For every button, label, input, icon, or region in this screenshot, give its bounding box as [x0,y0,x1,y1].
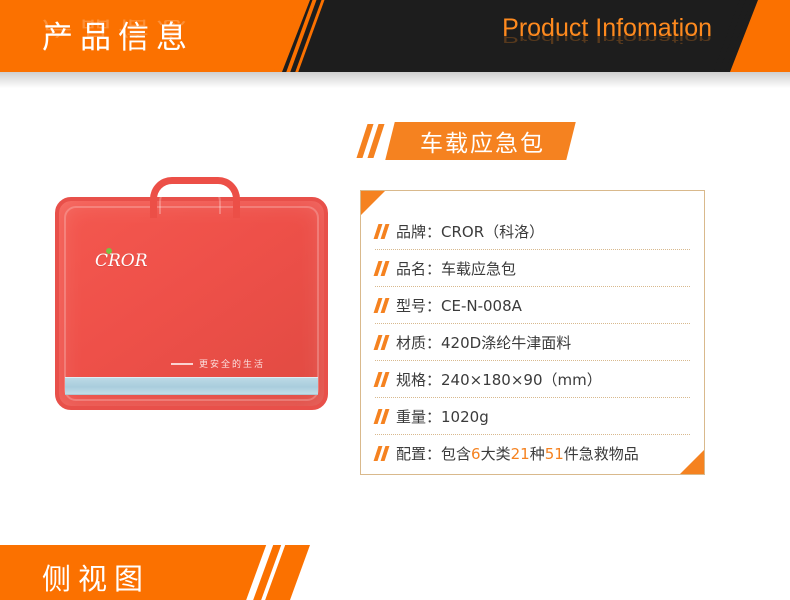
bullet-slash-icon [375,224,389,239]
spec-row-text: 材质：420D涤纶牛津面料 [396,332,571,353]
config-prefix: 包含 [441,445,471,463]
spec-row: 重量：1020g [375,398,690,435]
spec-row-text: 配置：包含6大类21种51件急救物品 [396,443,639,464]
bag-handle-inner-seam [159,184,221,214]
spec-label: 材质： [396,334,441,352]
badge-plate: 车载应急包 [385,122,575,160]
bullet-slash-icon [375,335,389,350]
config-count-types: 21 [511,445,530,463]
page-footer: 侧视图 [0,545,790,600]
reflective-strip [65,377,318,395]
config-mid-1: 大类 [481,445,511,463]
spec-row-text: 型号：CE-N-008A [396,295,522,316]
spec-row-text: 品牌：CROR（科洛） [396,221,544,242]
spec-row-text: 重量：1020g [396,406,489,427]
spec-value: 车载应急包 [441,260,516,278]
tagline-dash [171,363,193,365]
spec-value: 240×180×90（mm） [441,371,602,389]
product-photo: CROR 更安全的生活 [45,175,335,420]
config-suffix: 件急救物品 [564,445,639,463]
footer-title: 侧视图 [42,556,150,598]
spec-row: 规格：240×180×90（mm） [375,361,690,398]
spec-value: CE-N-008A [441,297,522,315]
spec-row-text: 规格：240×180×90（mm） [396,369,602,390]
spec-label: 型号： [396,297,441,315]
config-count-items: 51 [545,445,564,463]
spec-label: 配置： [396,445,441,463]
bag-tagline: 更安全的生活 [199,357,265,370]
spec-row: 材质：420D涤纶牛津面料 [375,324,690,361]
badge-label: 车载应急包 [420,124,545,158]
spec-row-text: 品名：车载应急包 [396,258,516,279]
config-count-categories: 6 [471,445,481,463]
spec-label: 规格： [396,371,441,389]
spec-row: 品牌：CROR（科洛） [375,213,690,250]
spec-row-config: 配置：包含6大类21种51件急救物品 [375,435,690,471]
page-header: 产品信息 产品信息 Product Infomation Product Inf… [0,0,790,72]
config-mid-2: 种 [530,445,545,463]
bag-brand-logo: CROR [95,251,148,271]
spec-label: 品牌： [396,223,441,241]
spec-value: 420D涤纶牛津面料 [441,334,571,352]
spec-label: 重量： [396,408,441,426]
spec-value: CROR（科洛） [441,223,544,241]
header-title-en: Product Infomation [502,14,712,43]
spec-rows: 品牌：CROR（科洛） 品名：车载应急包 型号：CE-N-008A 材质：420… [375,213,690,471]
bullet-slash-icon [375,446,389,461]
spec-row: 型号：CE-N-008A [375,287,690,324]
bullet-slash-icon [375,409,389,424]
spec-panel: 品牌：CROR（科洛） 品名：车载应急包 型号：CE-N-008A 材质：420… [360,190,705,475]
bullet-slash-icon [375,298,389,313]
header-drop-shadow [0,72,790,88]
spec-value: 1020g [441,408,489,426]
spec-row: 品名：车载应急包 [375,250,690,287]
bag-seam [64,206,319,401]
panel-corner-top-left [361,191,385,215]
spec-label: 品名： [396,260,441,278]
emergency-bag-body: CROR 更安全的生活 [55,197,328,410]
bullet-slash-icon [375,261,389,276]
header-title-cn: 产品信息 [42,12,194,57]
bullet-slash-icon [375,372,389,387]
